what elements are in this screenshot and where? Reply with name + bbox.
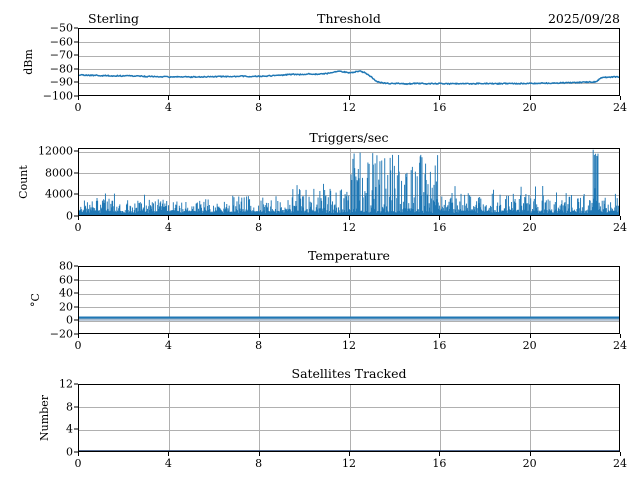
figure: Sterling Threshold 2025/09/28 −100−90−80… [0,0,640,480]
xaxis-satellites: 04812162024 [0,452,640,472]
x-tick-mark [168,96,169,100]
y-tick-mark [74,151,78,152]
y-tick-mark [74,82,78,83]
data-trace-threshold [79,29,619,95]
x-tick-mark [78,334,79,338]
x-tick-label: 20 [523,340,537,352]
title-triggers: Triggers/sec [78,130,620,146]
x-tick-mark [620,334,621,338]
title-satellites: Satellites Tracked [78,366,620,382]
x-tick-label: 8 [255,222,262,234]
x-tick-label: 24 [613,340,627,352]
page-title: Threshold [317,10,381,28]
xaxis-threshold: 04812162024 [0,96,640,116]
y-tick-mark [74,293,78,294]
y-tick-mark [74,194,78,195]
axes-threshold [78,28,620,96]
ylabel-threshold: dBm [22,28,36,96]
x-tick-mark [168,216,169,220]
x-tick-label: 0 [75,222,82,234]
x-tick-label: 12 [342,222,356,234]
ylabel-satellites: Number [38,384,52,452]
y-tick-mark [74,279,78,280]
y-tick-mark [74,384,78,385]
x-tick-mark [259,96,260,100]
axes-temperature [78,266,620,334]
x-tick-label: 12 [342,458,356,470]
data-trace-temperature [79,267,619,333]
x-tick-mark [168,452,169,456]
x-tick-label: 24 [613,222,627,234]
x-tick-label: 20 [523,102,537,114]
x-tick-mark [168,334,169,338]
x-tick-mark [530,452,531,456]
x-tick-mark [620,452,621,456]
date-label: 2025/09/28 [548,10,620,28]
x-tick-label: 16 [432,222,446,234]
x-tick-label: 4 [165,340,172,352]
figure-header: Sterling Threshold 2025/09/28 [78,10,620,28]
x-tick-mark [78,96,79,100]
x-tick-label: 16 [432,340,446,352]
x-tick-mark [78,452,79,456]
axes-satellites [78,384,620,452]
x-tick-label: 4 [165,102,172,114]
x-tick-mark [439,96,440,100]
x-tick-label: 24 [613,458,627,470]
x-tick-label: 8 [255,102,262,114]
xaxis-temperature: 04812162024 [0,334,640,354]
y-tick-mark [74,406,78,407]
ylabel-temperature: °C [29,266,43,334]
data-trace-satellites [79,385,619,451]
y-tick-mark [74,429,78,430]
x-tick-mark [620,96,621,100]
y-tick-mark [74,68,78,69]
yaxis-threshold: −100−90−80−70−60−50 [0,28,78,96]
x-tick-mark [530,216,531,220]
x-tick-label: 16 [432,458,446,470]
x-tick-mark [439,216,440,220]
x-tick-mark [349,334,350,338]
y-tick-mark [74,55,78,56]
x-tick-mark [78,216,79,220]
x-tick-label: 20 [523,458,537,470]
x-tick-label: 0 [75,458,82,470]
x-tick-mark [530,334,531,338]
x-tick-label: 8 [255,458,262,470]
title-temperature: Temperature [78,248,620,264]
y-tick-mark [74,28,78,29]
x-tick-label: 0 [75,102,82,114]
y-tick-mark [74,320,78,321]
y-tick-mark [74,172,78,173]
y-tick-label: 12000 [38,146,78,157]
station-name: Sterling [88,10,139,28]
x-tick-label: 4 [165,222,172,234]
x-tick-mark [259,216,260,220]
x-tick-label: 16 [432,102,446,114]
x-tick-mark [259,334,260,338]
yaxis-triggers: 04000800012000 [0,148,78,216]
data-trace-triggers [79,149,619,215]
ylabel-triggers: Count [17,148,31,216]
panel-satellites: Satellites Tracked 04812 04812162024 Num… [0,366,640,468]
x-tick-mark [439,334,440,338]
x-tick-mark [530,96,531,100]
panel-temperature: Temperature −20020406080 04812162024 °C [0,248,640,350]
y-tick-mark [74,306,78,307]
x-tick-label: 0 [75,340,82,352]
x-tick-mark [439,452,440,456]
x-tick-label: 12 [342,102,356,114]
panel-threshold: −100−90−80−70−60−50 04812162024 dBm [0,28,640,118]
x-tick-label: 24 [613,102,627,114]
y-tick-mark [74,41,78,42]
x-tick-label: 4 [165,458,172,470]
x-tick-label: 12 [342,340,356,352]
panel-triggers: Triggers/sec 04000800012000 04812162024 … [0,130,640,232]
xaxis-triggers: 04812162024 [0,216,640,236]
x-tick-mark [349,96,350,100]
x-tick-mark [259,452,260,456]
x-tick-mark [349,452,350,456]
x-tick-mark [349,216,350,220]
x-tick-mark [620,216,621,220]
y-tick-mark [74,266,78,267]
axes-triggers [78,148,620,216]
x-tick-label: 8 [255,340,262,352]
x-tick-label: 20 [523,222,537,234]
